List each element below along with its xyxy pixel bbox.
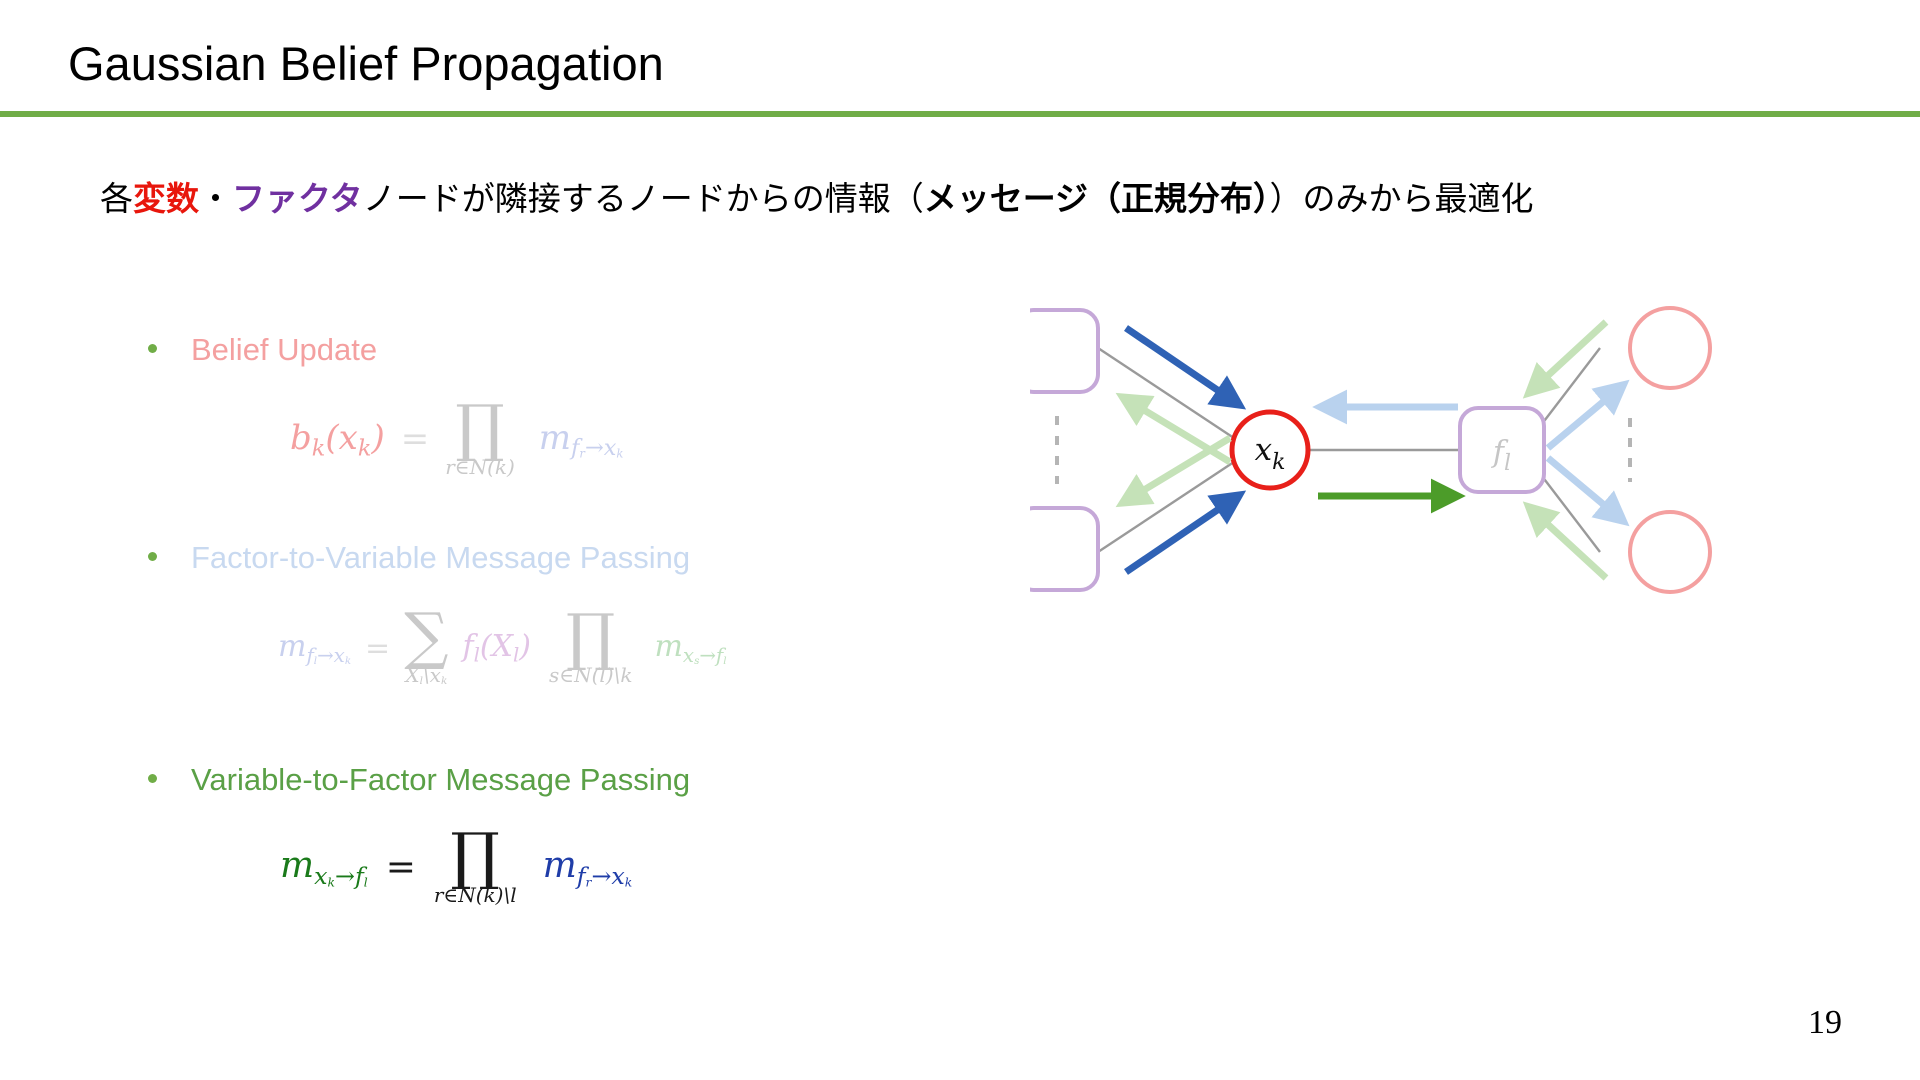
formula-f2v-f: f xyxy=(462,629,473,664)
formula-factor-to-variable: mfl→xk = ∑ Xl\xk fl(Xl) ∏ s∈N(l)\k mxs→f… xyxy=(278,610,727,686)
page-number: 19 xyxy=(1808,1004,1842,1042)
page-title: Gaussian Belief Propagation xyxy=(68,36,664,91)
formula-f2v-lhs-target: x xyxy=(334,644,345,667)
headline-seg-mid: ノードが隣接するノードからの情報（ xyxy=(363,179,924,218)
arrow-fl-to-neighbor-top xyxy=(1548,386,1622,448)
formula-belief-product-operator: ∏ r∈N(k) xyxy=(445,402,515,477)
headline-seg-message: メッセージ（正規分布） xyxy=(924,179,1270,218)
formula-belief-arrow: → xyxy=(585,435,604,461)
formula-belief-m-target-sub: k xyxy=(616,446,623,460)
formula-v2f-m: m xyxy=(280,845,314,886)
arrow-factor-to-xk-top xyxy=(1126,328,1238,404)
formula-v2f-m-sub-k: k xyxy=(328,875,335,889)
formula-v2f-lhs-arrow: → xyxy=(335,862,355,890)
formula-f2v-equals: = xyxy=(365,631,390,666)
formula-f2v-rhs-m: m xyxy=(654,629,682,664)
formula-f2v-lhs-target-sub: k xyxy=(345,655,351,667)
formula-belief-paren-open: ( xyxy=(325,418,338,458)
neighbor-factor-node-bottom xyxy=(1030,508,1098,590)
formula-v2f-rhs: mfr→xk xyxy=(543,845,633,890)
arrow-fl-to-neighbor-bottom xyxy=(1548,458,1622,520)
formula-belief-equals: = xyxy=(401,419,430,459)
formula-f2v-m-sub-f: f xyxy=(306,644,313,667)
headline-seg-dot: ・ xyxy=(199,179,232,218)
formula-belief-rhs: mfr→xk xyxy=(539,418,624,461)
arrow-factor-to-xk-bottom xyxy=(1126,496,1238,572)
formula-v2f-lhs: mxk→fl xyxy=(280,845,368,890)
bullet-dot-icon xyxy=(148,552,157,561)
product-glyph: ∏ xyxy=(451,830,500,883)
formula-f2v-sum-operator: ∑ Xl\xk xyxy=(404,610,448,686)
bullet-dot-icon xyxy=(148,344,157,353)
arrow-xk-to-factor-top xyxy=(1124,398,1230,462)
formula-belief-lhs: bk(xk) xyxy=(290,418,385,461)
factor-graph-diagram: xk fl xyxy=(1030,300,1730,600)
bullet-item-belief-update[interactable]: Belief Update xyxy=(148,332,377,368)
neighbor-variable-node-bottom xyxy=(1630,512,1710,592)
sum-glyph: ∑ xyxy=(404,610,448,663)
bullet-dot-icon xyxy=(148,774,157,783)
headline-seg-hensuu: 変数 xyxy=(133,179,199,218)
formula-v2f-lhs-target: f xyxy=(355,862,364,890)
formula-belief-b: b xyxy=(290,418,312,458)
formula-f2v-product-operator: ∏ s∈N(l)\k xyxy=(549,611,632,686)
formula-v2f-product-operator: ∏ r∈N(k)\l xyxy=(434,830,517,905)
product-glyph: ∏ xyxy=(566,611,615,664)
arrow-xk-to-factor-bottom xyxy=(1124,438,1230,502)
product-limit: r∈N(k) xyxy=(445,457,515,477)
title-divider xyxy=(0,111,1920,117)
bullet-item-variable-to-factor[interactable]: Variable-to-Factor Message Passing xyxy=(148,762,690,798)
formula-f2v-factor-term: fl(Xl) xyxy=(462,629,531,667)
product-limit: r∈N(k)\l xyxy=(434,885,517,905)
formula-belief-m: m xyxy=(539,418,571,458)
formula-f2v-X: X xyxy=(492,629,513,664)
formula-f2v-rhs: mxs→fl xyxy=(654,629,726,667)
product-glyph: ∏ xyxy=(455,402,504,455)
bullet-item-factor-to-variable[interactable]: Factor-to-Variable Message Passing xyxy=(148,540,690,576)
formula-v2f-m-sub-x: x xyxy=(314,862,327,890)
formula-f2v-m: m xyxy=(278,629,306,664)
formula-belief-x-sub: k xyxy=(358,435,372,461)
formula-belief-x: x xyxy=(339,418,358,458)
product-limit: s∈N(l)\k xyxy=(549,665,632,685)
formula-belief-update: bk(xk) = ∏ r∈N(k) mfr→xk xyxy=(290,402,623,477)
formula-variable-to-factor: mxk→fl = ∏ r∈N(k)\l mfr→xk xyxy=(280,830,632,905)
formula-v2f-rhs-m: m xyxy=(543,845,577,886)
headline-seg-factor: ファクタ xyxy=(232,179,363,218)
bullet-label-factor-to-variable: Factor-to-Variable Message Passing xyxy=(191,540,690,576)
headline-seg-kaku: 各 xyxy=(100,179,133,218)
headline-seg-tail: ）のみから最適化 xyxy=(1270,179,1534,218)
formula-belief-b-sub: k xyxy=(312,435,326,461)
bullet-label-variable-to-factor: Variable-to-Factor Message Passing xyxy=(191,762,690,798)
formula-belief-m-target: x xyxy=(604,435,617,461)
formula-v2f-equals: = xyxy=(386,847,416,888)
neighbor-variable-node-top xyxy=(1630,308,1710,388)
formula-belief-paren-close: ) xyxy=(371,418,384,458)
formula-f2v-lhs-arrow: → xyxy=(317,644,334,667)
neighbor-factor-node-top xyxy=(1030,310,1098,392)
headline-text: 各変数・ファクタノードが隣接するノードからの情報（メッセージ（正規分布））のみか… xyxy=(100,178,1860,220)
sum-limit: Xl\xk xyxy=(405,665,447,686)
formula-f2v-lhs: mfl→xk xyxy=(278,629,351,667)
formula-v2f-lhs-target-sub: l xyxy=(364,875,368,889)
bullet-label-belief-update: Belief Update xyxy=(191,332,377,368)
